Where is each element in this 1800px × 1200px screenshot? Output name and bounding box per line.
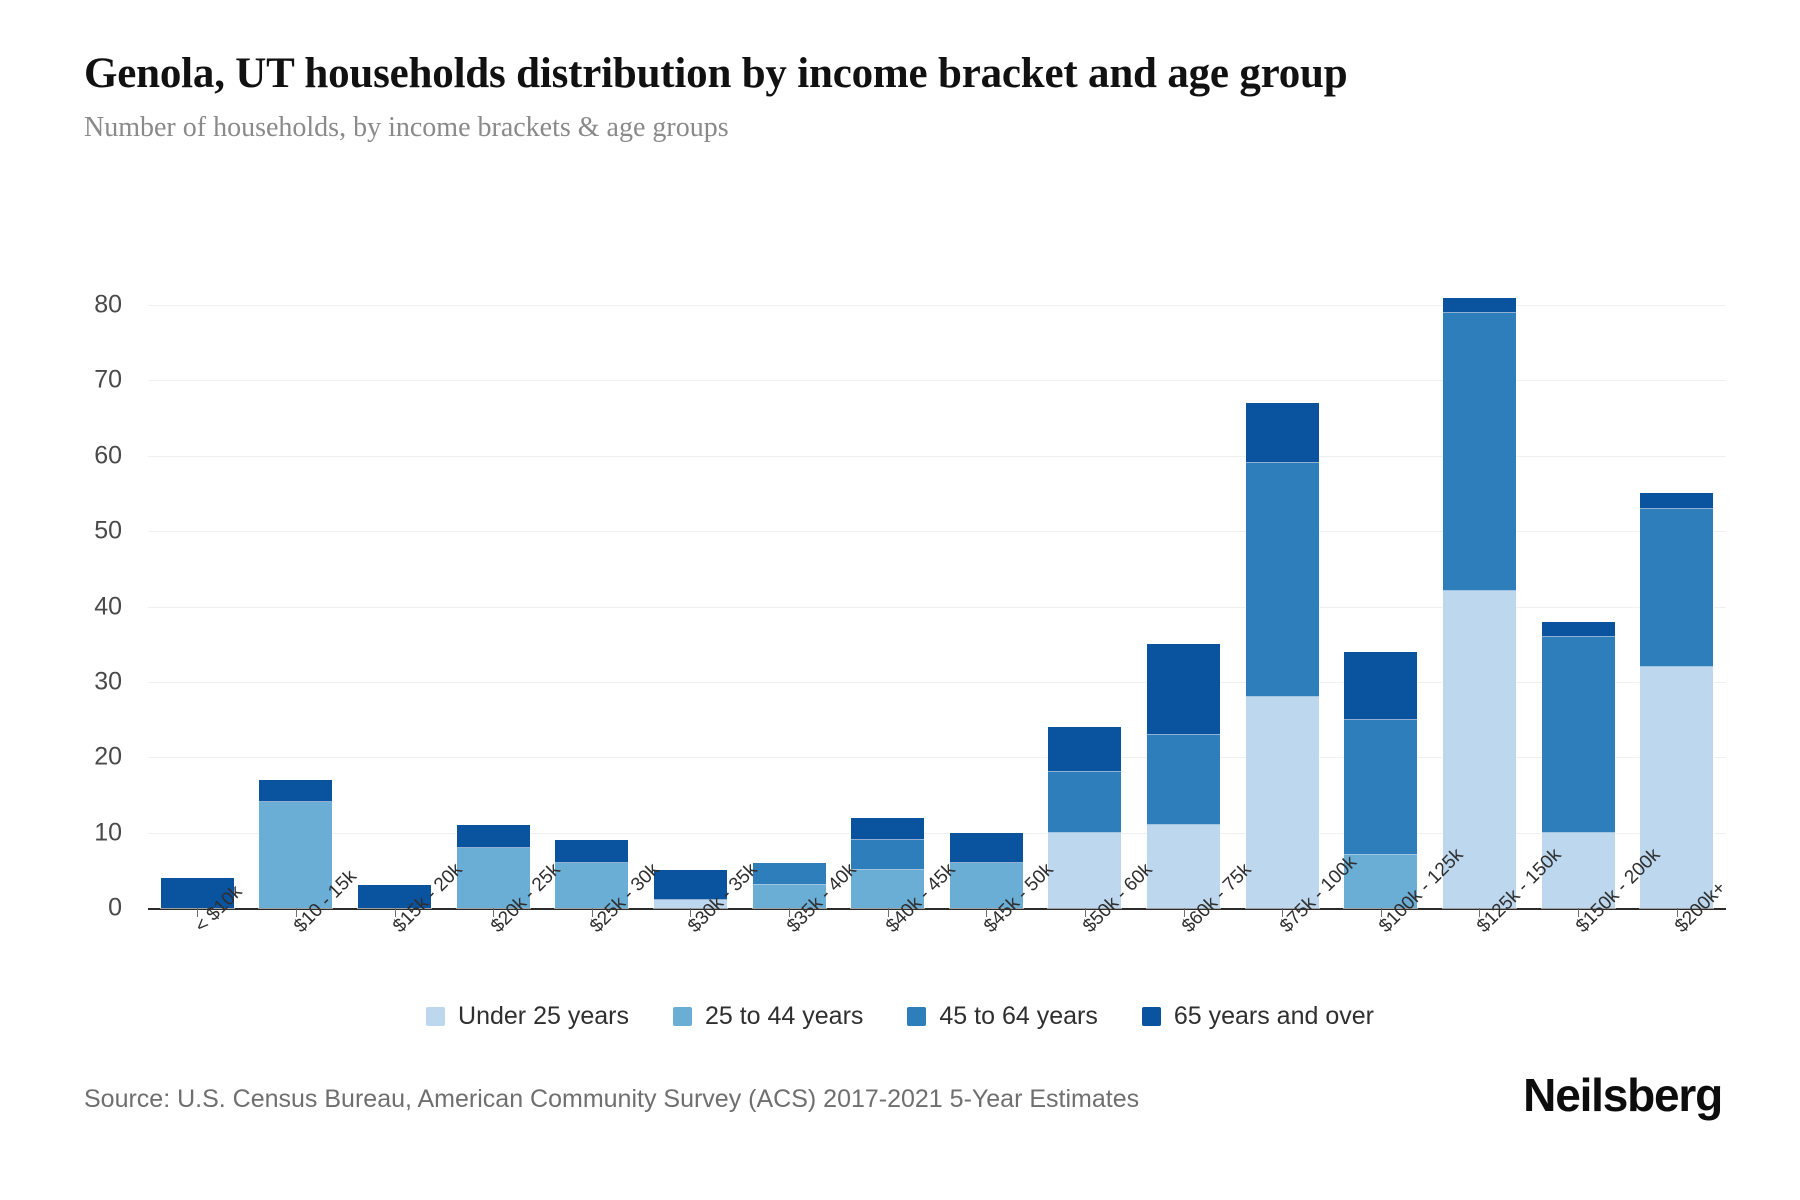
legend-item[interactable]: 45 to 64 years — [907, 1002, 1097, 1031]
bar-segment[interactable] — [1147, 644, 1220, 734]
y-axis-tick-label: 30 — [62, 667, 122, 696]
bar-segment[interactable] — [1344, 652, 1417, 720]
y-axis-tick-label: 10 — [62, 818, 122, 847]
bar-segment[interactable] — [1246, 403, 1319, 463]
bar-segment[interactable] — [259, 780, 332, 803]
source-note: Source: U.S. Census Bureau, American Com… — [84, 1085, 1139, 1114]
bar-stack[interactable] — [1443, 298, 1516, 909]
bar-segment[interactable] — [1048, 772, 1121, 832]
brand-logo: Neilsberg — [1523, 1068, 1722, 1122]
bar-segment[interactable] — [1542, 637, 1615, 833]
bar-segment[interactable] — [1246, 463, 1319, 697]
y-axis-tick-label: 0 — [62, 894, 122, 923]
legend-swatch-icon — [673, 1007, 692, 1026]
legend-label: 45 to 64 years — [939, 1002, 1097, 1031]
bar-segment[interactable] — [1443, 298, 1516, 313]
bar-segment[interactable] — [851, 840, 924, 870]
y-axis-tick-label: 50 — [62, 517, 122, 546]
bar-segment[interactable] — [555, 840, 628, 863]
bar-segment[interactable] — [457, 825, 530, 848]
bar-segment[interactable] — [1147, 735, 1220, 825]
bar-segment[interactable] — [1542, 622, 1615, 637]
y-axis-tick-label: 70 — [62, 366, 122, 395]
chart-legend: Under 25 years25 to 44 years45 to 64 yea… — [0, 1002, 1800, 1031]
bar-stack[interactable] — [1246, 403, 1319, 908]
plot-area — [148, 305, 1726, 908]
legend-item[interactable]: Under 25 years — [426, 1002, 629, 1031]
bar-segment[interactable] — [1640, 493, 1713, 508]
bar-stack[interactable] — [1147, 644, 1220, 908]
legend-swatch-icon — [426, 1007, 445, 1026]
y-axis-tick-label: 40 — [62, 592, 122, 621]
bar-segment[interactable] — [1246, 697, 1319, 908]
y-axis-tick-label: 20 — [62, 743, 122, 772]
y-axis-tick-label: 80 — [62, 291, 122, 320]
bar-segment[interactable] — [1640, 509, 1713, 667]
bar-segment[interactable] — [1344, 720, 1417, 856]
legend-item[interactable]: 65 years and over — [1142, 1002, 1374, 1031]
bar-segment[interactable] — [753, 863, 826, 886]
legend-label: 65 years and over — [1174, 1002, 1374, 1031]
legend-swatch-icon — [1142, 1007, 1161, 1026]
bar-segment[interactable] — [851, 818, 924, 841]
y-axis-tick-label: 60 — [62, 441, 122, 470]
bar-stack[interactable] — [1048, 727, 1121, 908]
bar-segment[interactable] — [1443, 313, 1516, 592]
legend-label: 25 to 44 years — [705, 1002, 863, 1031]
legend-label: Under 25 years — [458, 1002, 629, 1031]
legend-swatch-icon — [907, 1007, 926, 1026]
legend-item[interactable]: 25 to 44 years — [673, 1002, 863, 1031]
bar-segment[interactable] — [950, 833, 1023, 863]
bar-segment[interactable] — [1048, 727, 1121, 772]
